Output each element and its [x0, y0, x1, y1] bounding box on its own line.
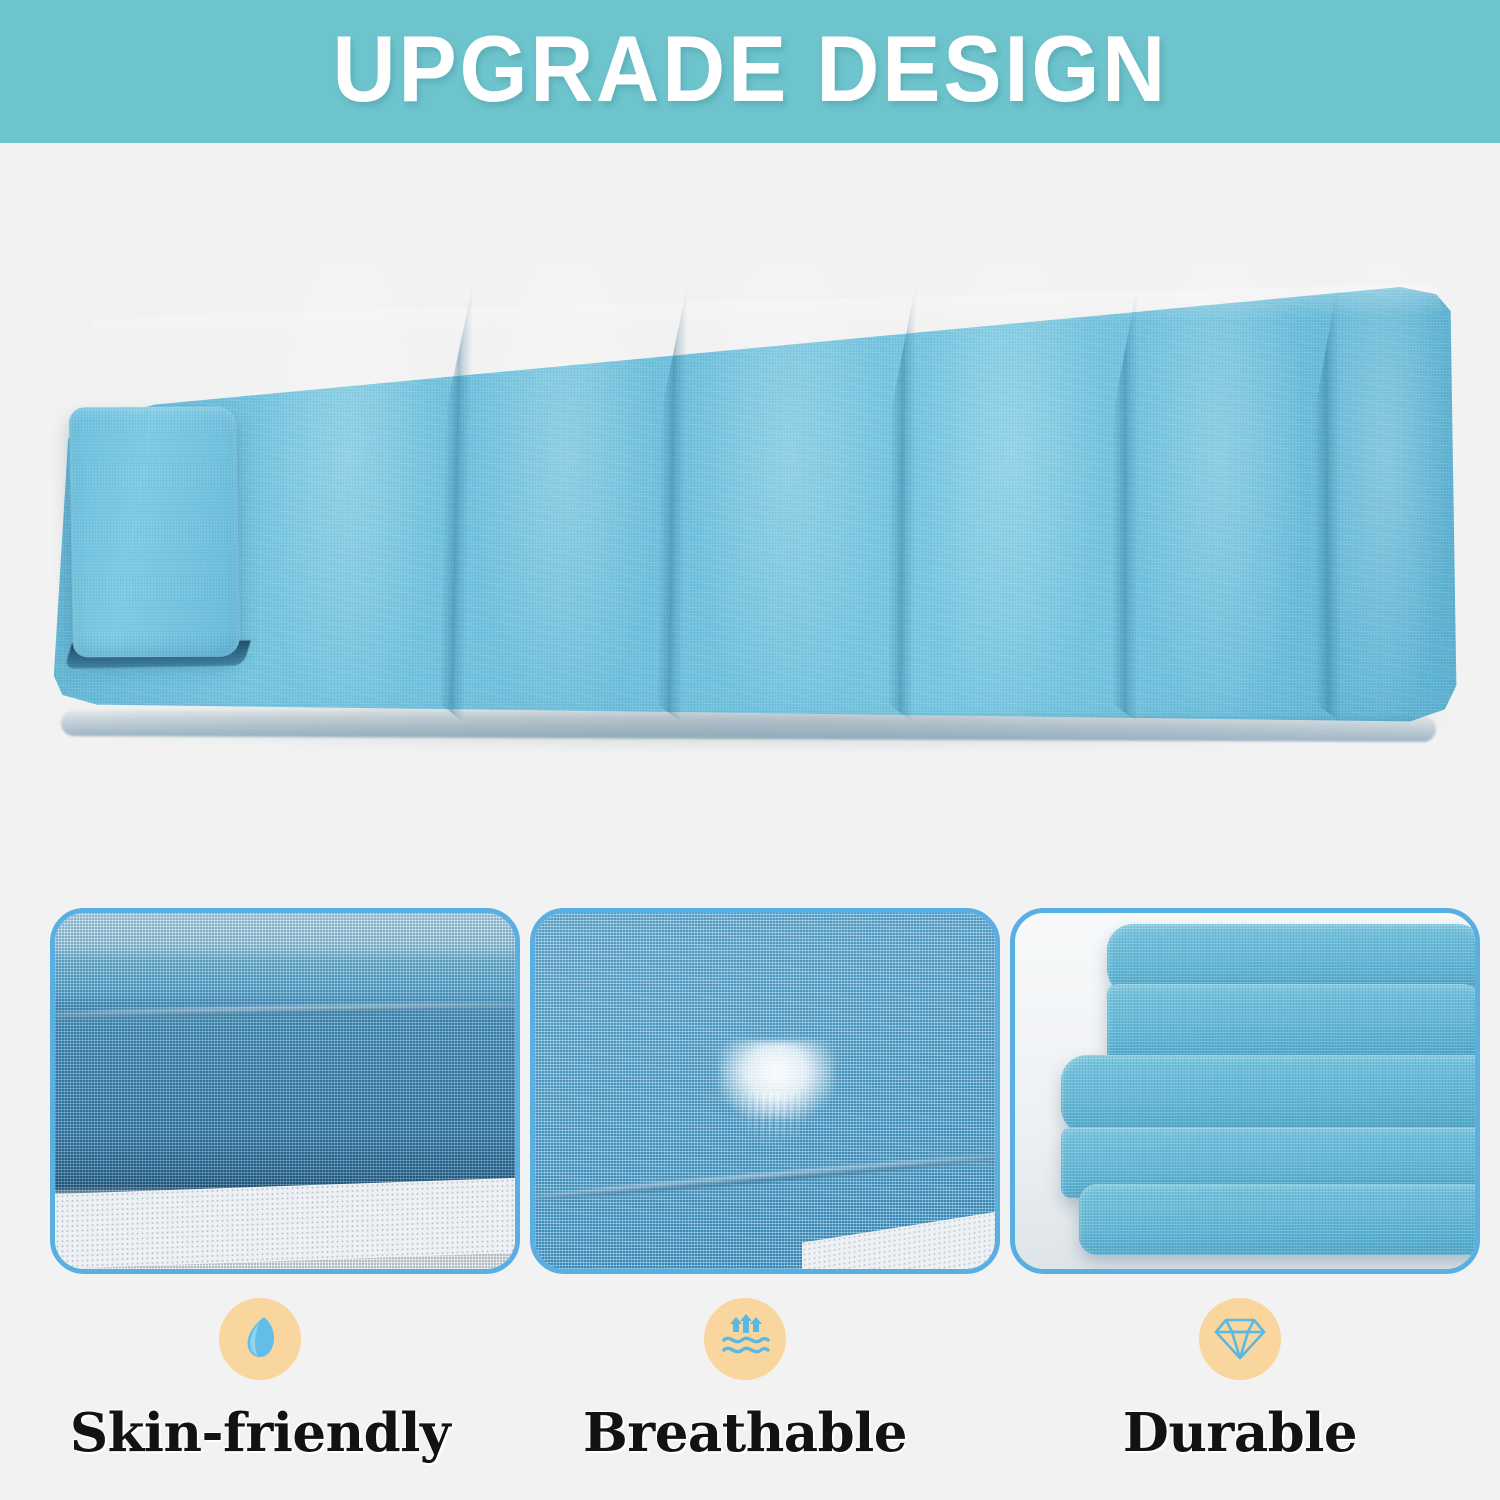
feature-skin-friendly: Skin-friendly — [20, 1290, 500, 1500]
leaf-icon — [234, 1311, 286, 1368]
feature-panel-breathable — [530, 908, 1000, 1274]
attached-pillow — [69, 407, 240, 657]
folded-layer — [1107, 984, 1480, 1062]
feature-icon-badge — [1199, 1298, 1281, 1380]
air-rays-effect — [728, 1091, 820, 1148]
pillow-fabric-texture — [69, 407, 240, 657]
hero-product-image — [0, 143, 1500, 843]
weave-texture — [1079, 1184, 1480, 1255]
feature-icon-badge — [219, 1298, 301, 1380]
feature-panel-skin-friendly — [50, 908, 520, 1274]
page-title: UPGRADE DESIGN — [332, 22, 1168, 122]
folded-stack-photo — [1015, 913, 1475, 1269]
feature-durable: Durable — [1000, 1290, 1480, 1500]
feature-label: Breathable — [583, 1402, 907, 1464]
feature-panel-row — [0, 900, 1500, 1280]
mat-body — [25, 263, 1465, 743]
nap-mat-illustration — [25, 263, 1465, 743]
breathability-photo — [535, 913, 995, 1269]
weave-texture — [1107, 984, 1480, 1062]
diamond-icon — [1214, 1312, 1266, 1367]
feature-icon-badge — [704, 1298, 786, 1380]
folded-layer — [1079, 1184, 1480, 1255]
feature-panel-durable — [1010, 908, 1480, 1274]
feature-breathable: Breathable — [505, 1290, 985, 1500]
airflow-waves-icon — [718, 1312, 772, 1367]
feature-label-row: Skin-friendly Breathable — [0, 1290, 1500, 1500]
feature-label: Skin-friendly — [70, 1402, 450, 1464]
folded-layer — [1061, 1055, 1480, 1133]
fabric-closeup-photo — [55, 913, 515, 1269]
header-banner: UPGRADE DESIGN — [0, 0, 1500, 143]
feature-label: Durable — [1123, 1402, 1357, 1464]
weave-texture — [1061, 1055, 1480, 1133]
